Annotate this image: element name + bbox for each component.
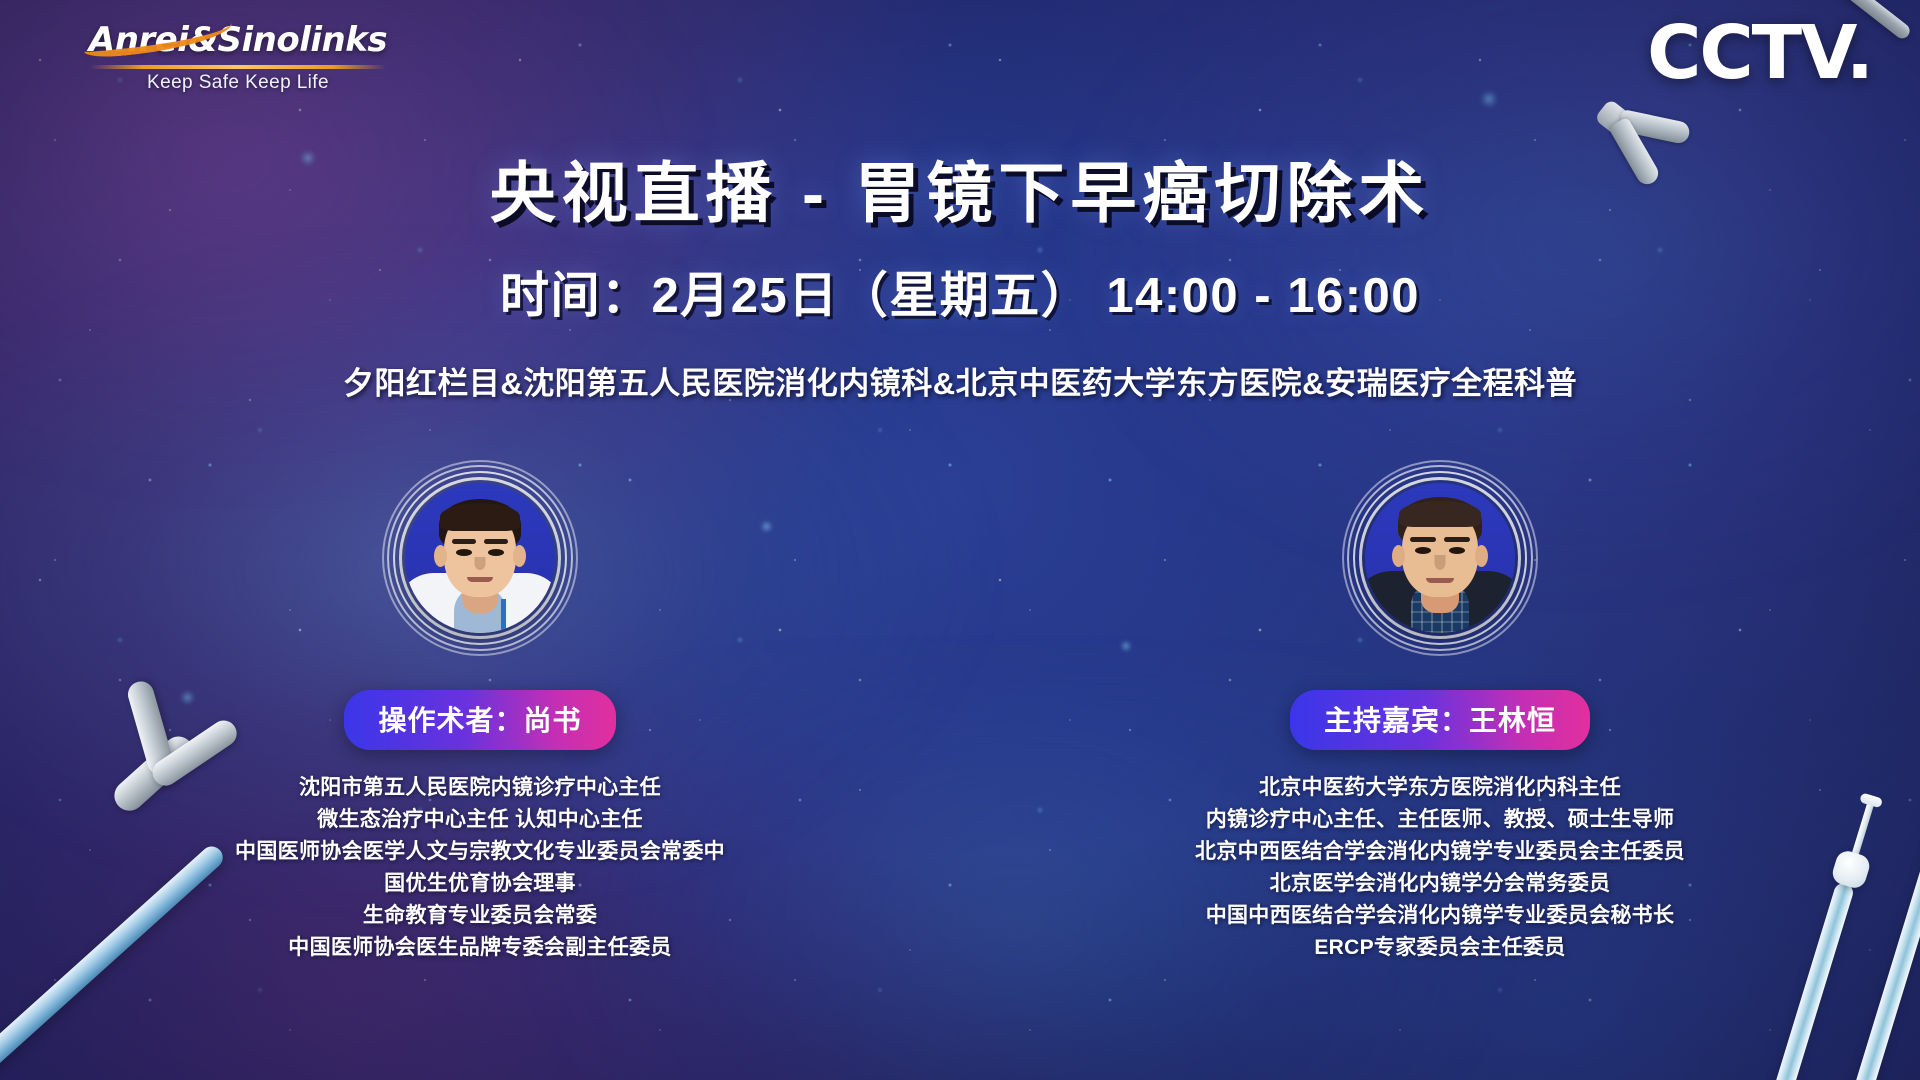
avatar (382, 460, 578, 656)
credential-line: 北京医学会消化内镜学分会常务委员 (1195, 868, 1685, 900)
speaker-credentials: 沈阳市第五人民医院内镜诊疗中心主任 微生态治疗中心主任 认知中心主任 中国医师协… (235, 772, 725, 963)
doctor-portrait-avatar (405, 483, 555, 633)
host-portrait-avatar (1365, 483, 1515, 633)
page-title: 央视直播 - 胃镜下早癌切除术 (0, 140, 1920, 236)
speaker-card-operator: 操作术者：尚书 沈阳市第五人民医院内镜诊疗中心主任 微生态治疗中心主任 认知中心… (180, 460, 780, 963)
cctv-logo[interactable]: CCTV. (1647, 16, 1872, 90)
credential-line: 内镜诊疗中心主任、主任医师、教授、硕士生导师 (1195, 804, 1685, 836)
event-partners-line: 夕阳红栏目&沈阳第五人民医院消化内镜科&北京中医药大学东方医院&安瑞医疗全程科普 (0, 358, 1920, 403)
sponsor-logo-wordmark: Anrei&Sinolinks (89, 20, 387, 60)
speaker-card-host: 主持嘉宾：王林恒 北京中医药大学东方医院消化内科主任 内镜诊疗中心主任、主任医师… (1140, 460, 1740, 963)
credential-line: 北京中西医结合学会消化内镜学专业委员会主任委员 (1195, 836, 1685, 868)
event-time-line: 时间：2月25日（星期五） 14:00 - 16:00 (0, 256, 1920, 327)
sponsor-logo[interactable]: Anrei&Sinolinks Keep Safe Keep Life (78, 20, 398, 94)
status-badge: 操作术者：尚书 (344, 690, 615, 750)
poster-header: Anrei&Sinolinks Keep Safe Keep Life CCTV… (0, 0, 1920, 118)
credential-line: 中国医师协会医生品牌专委会副主任委员 (235, 932, 725, 964)
credential-line: 中国医师协会医学人文与宗教文化专业委员会常委中 (235, 836, 725, 868)
sponsor-tagline: Keep Safe Keep Life (78, 72, 398, 94)
credential-line: 沈阳市第五人民医院内镜诊疗中心主任 (235, 772, 725, 804)
credential-line: 微生态治疗中心主任 认知中心主任 (235, 804, 725, 836)
credential-line: 北京中医药大学东方医院消化内科主任 (1195, 772, 1685, 804)
poster-canvas: Anrei&Sinolinks Keep Safe Keep Life CCTV… (0, 0, 1920, 1080)
credential-line: 中国中西医结合学会消化内镜学专业委员会秘书长 (1195, 900, 1685, 932)
credential-line: 国优生优育协会理事 (235, 868, 725, 900)
speakers-section: 操作术者：尚书 沈阳市第五人民医院内镜诊疗中心主任 微生态治疗中心主任 认知中心… (0, 460, 1920, 963)
logo-divider-rule (90, 65, 386, 69)
credential-line: ERCP专家委员会主任委员 (1195, 932, 1685, 964)
credential-line: 生命教育专业委员会常委 (235, 900, 725, 932)
status-badge: 主持嘉宾：王林恒 (1290, 690, 1590, 750)
avatar (1342, 460, 1538, 656)
speaker-credentials: 北京中医药大学东方医院消化内科主任 内镜诊疗中心主任、主任医师、教授、硕士生导师… (1195, 772, 1685, 963)
